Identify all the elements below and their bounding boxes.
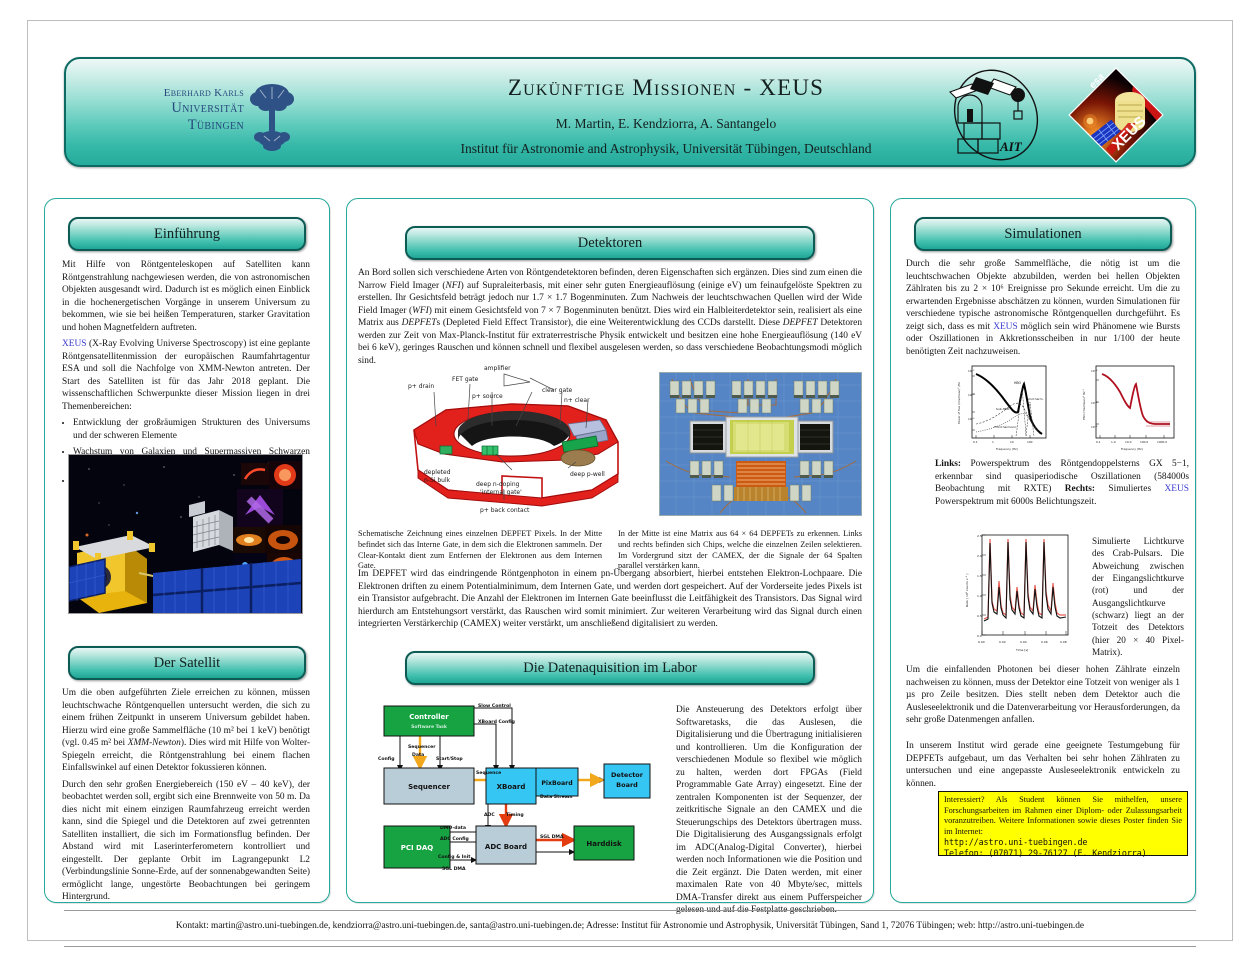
caption-rechts-text-a: Simuliertes [1095,484,1165,494]
daq-block-detector: Detector [611,771,644,779]
label-clear-gate: clear gate [542,387,573,394]
depfet-schematic-caption: Schematische Zeichnung eines einzelnen D… [358,529,602,572]
gx5-xtick-3: 100 [1027,440,1033,444]
section-heading-simulationen: Simulationen [914,217,1172,251]
xeus-logo: esa XEUS [1066,65,1166,165]
daq-wire-data-stream: Data Stream [540,794,573,800]
section-heading-einfuehrung-label: Einführung [154,226,220,243]
section-heading-der-satellit: Der Satellit [68,646,306,680]
daq-block-sequencer: Sequencer [408,783,450,791]
poster-canvas: Eberhard Karls Universität Tübingen [0,0,1260,961]
caption-bold-links: Links: [935,459,961,469]
lc-ytick-0.5: 0.5 [977,614,982,618]
xeusps-xtick-2: 10.0 [1125,440,1132,444]
daq-wire-sgl-dma-2: SGL DMA [442,866,466,872]
lc-xtick-2: 0.04 [1020,640,1027,644]
lc-xtick-1: 0.02 [999,640,1006,644]
gx5-xtick-0: 0.1 [973,440,978,444]
label-n-si-bulk: n-Si bulk [424,477,451,484]
daq-block-controller: Controller [409,713,449,721]
xmm-newton-italic: XMM-Newton [128,738,181,748]
daq-wire-slow-control: Slow Control [478,703,511,709]
university-logo: Eberhard Karls Universität Tübingen [94,81,324,151]
university-logo-line3: Tübingen [94,117,244,134]
xeusps-xtick-1: 1.0 [1111,440,1116,444]
intro-paragraph-2-rest: (X-Ray Evolving Universe Spectroscopy) i… [62,339,310,412]
section-heading-detektoren: Detektoren [405,226,815,260]
gx5-ylabel: Power of flux (rms/mean)² /Hz [957,382,961,424]
daq-wire-data: Data [412,752,424,758]
lc-ytick-2.0: 2.0 [977,554,982,558]
svg-text:AIT: AIT [999,139,1023,154]
xeusps-xlabel: Frequency (Hz) [1121,447,1143,451]
poster-affiliation: Institut für Astronomie and Astrophysik,… [326,141,1006,157]
depfet-principle-text: Im DEPFET wird das eindringende Röntgenp… [358,568,862,631]
gx5-ytick-0: 10⁻² [968,369,974,373]
daq-wire-dmo-data: DMO-data [440,825,466,831]
xeusps-xtick-4: 1000.0 [1157,440,1167,444]
depfet-abbrev-2: DEPFET [783,318,818,328]
tree-emblem-icon [246,81,298,151]
crab-lightcurve-caption: Simulierte Lichtkurve des Crab-Pulsars. … [1092,535,1184,658]
contact-url[interactable]: http://astro.uni-tuebingen.de [944,837,1182,848]
caption-bold-rechts: Rechts: [1065,484,1095,494]
xeusps-ytick-1: 10⁻⁴ [1091,401,1098,405]
daq-wire-adc: ADC [484,812,495,818]
annot-third-harmonic: Third harmonic [993,425,1017,429]
simulations-text-2: Um die einfallenden Photonen bei dieser … [906,664,1180,731]
xeusps-xtick-3: 100.0 [1140,440,1148,444]
powerspectrum-gx5-1-chart: HBO Sub-HBO 2nd harm. Third harmonic 0.1… [952,362,1052,456]
annot-2nd-harm: 2nd harm. [1028,397,1044,401]
satellite-text: Um die oben aufgeführten Ziele erreichen… [62,687,310,908]
daq-wire-sgl-dma-1: SGL DMA [540,834,564,840]
depfet-pixel-drawing: amplifier FET gate p+ drain p+ source cl… [392,358,650,518]
section-heading-datenaquisition-label: Die Datenaquisition im Labor [523,660,697,677]
section-heading-detektoren-label: Detektoren [578,235,642,252]
xeus-link-intro[interactable]: XEUS [62,339,86,349]
section-heading-simulationen-label: Simulationen [1004,226,1081,243]
poster-authors: M. Martin, E. Kendziorra, A. Santangelo [366,116,966,132]
gx5-ytick-1: 10⁻⁴ [968,393,975,397]
daq-wire-adc-config: ADC Config [440,836,469,842]
nfi-abbrev: NFI [446,281,461,291]
xeusps-ytick-0: 10⁻² [1091,369,1097,373]
ait-logo: AIT [938,65,1058,165]
lc-ytick-1.0: 1.0 [977,594,982,598]
contact-callout-box: Interessiert? Als Student können Sie mit… [938,791,1188,856]
depfet-pixel-schematic-figure: amplifier FET gate p+ drain p+ source cl… [392,358,650,518]
satellite-paragraph-2: Durch den sehr großen Energiebereich (15… [62,779,310,904]
daq-block-detector-board: Board [616,781,638,789]
satellite-artist-impression-image [68,454,303,614]
xeusps-ylabel: PSD (rms/mean)² Hz⁻¹ [1082,389,1086,420]
daq-wire-sequence: Sequence [476,770,501,776]
label-internal-gate: 'internal gate' [480,489,522,496]
depfet-matrix-caption: In der Mitte ist eine Matrix aus 64 × 64… [618,529,862,572]
contact-callout-text: Interessiert? Als Student können Sie mit… [944,795,1182,836]
detectors-paragraph-1: An Bord sollen sich verschiedene Arten v… [358,267,862,367]
daq-block-controller-sub: Software Task [411,724,448,730]
lc-ytick-2.5: 2.5 [977,534,982,538]
satellite-paragraph-1: Um die oben aufgeführten Ziele erreichen… [62,687,310,775]
daq-block-adc: ADC Board [485,843,527,851]
daq-wire-timing: Timing [506,812,524,818]
daq-wire-startstop: Start/Stop [436,756,463,762]
daq-wire-config: Config [378,756,395,762]
crab-lightcurve-chart: 2.5 2.0 1.5 1.0 0.5 0.0 0.00 0.02 0.04 0… [956,529,1080,657]
annot-hbo: HBO [1014,381,1022,385]
daq-block-pixboard: PixBoard [541,780,572,787]
xeusps-xtick-0: 0.1 [1096,440,1101,444]
contact-phone: Telefon: (07071) 29-76127 (E. Kendziorra… [944,848,1182,859]
gx5-xtick-2: 10 [1010,440,1014,444]
label-p-drain: p+ drain [408,383,434,390]
lc-ytick-0.0: 0.0 [977,634,982,638]
daq-block-xboard: XBoard [497,783,526,791]
sim-paragraph-3: In unserem Institut wird gerade eine gee… [906,740,1180,790]
section-heading-der-satellit-label: Der Satellit [154,655,220,672]
daq-block-pci-daq: PCI DAQ [401,844,434,852]
daq-wire-config-init: Config & Init [438,854,471,860]
xeus-link-caption[interactable]: XEUS [1165,484,1189,494]
powerspectrum-xeus-chart: 0.1 1.0 10.0 100.0 1000.0 Frequency (Hz)… [1076,362,1180,456]
daq-block-diagram: Controller Software Task Sequencer XBoar… [378,700,668,890]
footer-bottom-rule [64,946,1196,947]
wfi-abbrev: WFI [412,306,429,316]
gx5-xlabel: Frequency (Hz) [996,447,1018,451]
label-amplifier: amplifier [484,365,511,372]
lc-ytick-1.5: 1.5 [977,574,982,578]
lc-xtick-4: 0.08 [1060,640,1067,644]
intro-paragraph-1: Mit Hilfe von Röntgenteleskopen auf Sate… [62,259,310,334]
sim-paragraph-2: Um die einfallenden Photonen bei dieser … [906,664,1180,727]
section-heading-einfuehrung: Einführung [68,217,306,251]
daq-wire-xboard-config: XBoard Config [478,719,515,725]
label-depleted: depleted [424,469,451,476]
satellite-orbit-icon: AIT [938,65,1058,165]
detectors-text: An Bord sollen sich verschiedene Arten v… [358,267,862,371]
powerspectra-caption: Links: Powerspektrum des Röntgendoppelst… [935,458,1189,508]
university-logo-line1: Eberhard Karls [94,87,244,100]
label-deep-p-well: deep p-well [570,471,605,478]
sim-paragraph-1: Durch die sehr große Sammelfläche, die n… [906,258,1180,358]
simulations-text-3: In unserem Institut wird gerade eine gee… [906,740,1180,794]
det-p1-d: s (Depleted Field Effect Transistor), di… [436,318,782,328]
lc-xtick-3: 0.06 [1041,640,1048,644]
daq-diagram-svg: Controller Software Task Sequencer XBoar… [378,700,668,890]
simulations-text: Durch die sehr große Sammelfläche, die n… [906,258,1180,362]
depfet-abbrev-1: DEPFET [402,318,437,328]
caption-rechts-text-b: Powerspektrum mit 6000s Belichtungszeit. [935,497,1096,507]
label-deep-n-doping: deep n-doping [476,481,520,488]
gx5-xtick-1: 1 [992,440,994,444]
xeus-mission-emblem-icon: esa XEUS [1066,65,1166,165]
label-p-source: p+ source [472,393,503,400]
annot-sub-hbo: Sub-HBO [996,407,1010,411]
poster-title: Zukünftige Missionen - XEUS [366,75,966,101]
lc-xlabel: Time [s] [1015,648,1028,652]
daq-description-text: Die Ansteuerung des Detektors erfolgt üb… [676,704,862,917]
label-n-clear: n+ clear [564,397,590,404]
footer-top-rule [64,910,1196,911]
footer-contact-line: Kontakt: martin@astro.uni-tuebingen.de, … [64,921,1196,931]
xeusps-ytick-2: 10⁻⁶ [1091,425,1098,429]
intro-bullet-0: Entwicklung der großräumigen Strukturen … [73,417,310,442]
label-fet-gate: FET gate [452,376,479,383]
daq-wire-sequencer: Sequencer [408,744,436,750]
header-banner: Eberhard Karls Universität Tübingen [64,57,1196,167]
daq-block-harddisk: Harddisk [586,840,622,848]
label-p-back-contact: p+ back contact [480,507,530,514]
university-logo-line2: Universität [94,100,244,117]
intro-paragraph-2: XEUS (X-Ray Evolving Universe Spectrosco… [62,338,310,413]
depfet-matrix-photo [659,372,862,516]
lc-xtick-0: 0.00 [978,640,985,644]
xeus-link-sim[interactable]: XEUS [993,322,1017,332]
section-heading-datenaquisition: Die Datenaquisition im Labor [405,651,815,685]
lc-ylabel: Rate [ 10⁶ counts s⁻¹ ] [965,574,969,607]
gx5-ytick-2: 10⁻⁶ [968,417,975,421]
university-logo-text: Eberhard Karls Universität Tübingen [94,87,244,134]
